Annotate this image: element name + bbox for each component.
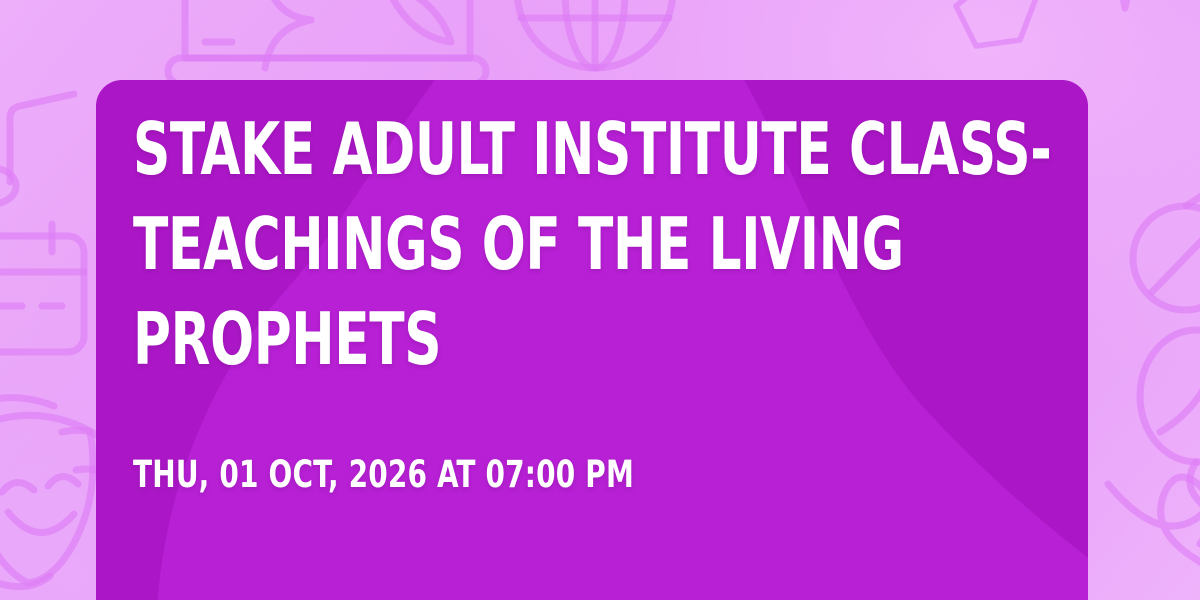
card-content: Stake Adult Institute Class- Teachings o… [133, 102, 1058, 497]
event-title: Stake Adult Institute Class- Teachings o… [133, 102, 1088, 387]
theater-masks-icon [0, 398, 110, 583]
event-banner: Stake Adult Institute Class- Teachings o… [0, 0, 1200, 600]
calendar-icon [0, 224, 84, 352]
sparkle-icon [1081, 0, 1169, 8]
event-date-time: Thu, 01 Oct, 2026 at 07:00 PM [133, 453, 910, 497]
event-card: Stake Adult Institute Class- Teachings o… [96, 80, 1088, 600]
ticket-icon [168, 0, 486, 84]
confetti-icon [956, 0, 1088, 46]
streamer-swirl-icon [0, 570, 50, 587]
music-note-icon [0, 94, 74, 204]
streamer-swirl-icon [1108, 366, 1200, 600]
balloon-icon [1140, 330, 1200, 544]
globe-icon [517, 0, 673, 68]
microphone-icon [1133, 180, 1200, 340]
